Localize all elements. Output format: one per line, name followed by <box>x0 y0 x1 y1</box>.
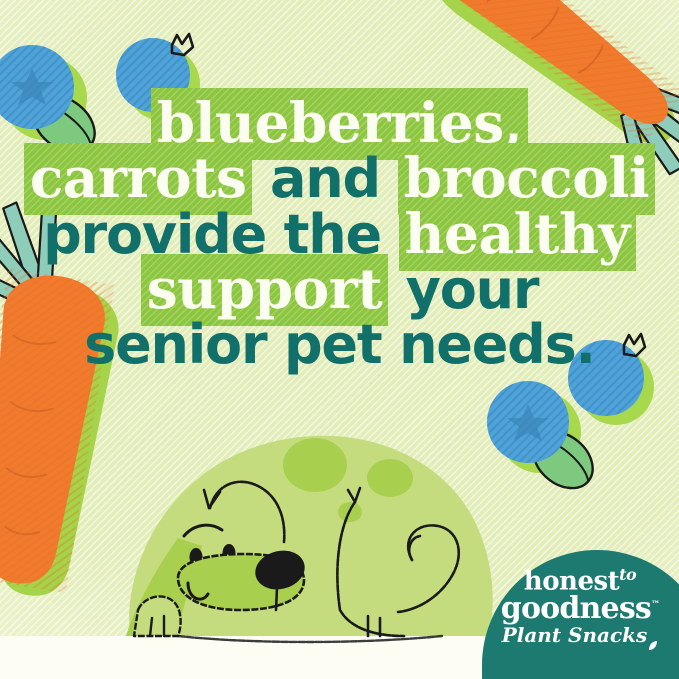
ad-canvas: blueberries, carrots and broccoli provid… <box>0 0 679 679</box>
headline: blueberries, carrots and broccoli provid… <box>0 96 679 372</box>
logo-word-to: to <box>619 565 636 584</box>
headline-phrase-senior-pet-needs: senior pet needs. <box>84 313 595 376</box>
leaf-icon <box>648 632 658 642</box>
logo-line-goodness: goodness™ <box>482 595 678 624</box>
logo-tagline: Plant Snacks <box>482 623 678 648</box>
brand-logo[interactable]: honestto goodness™ Plant Snacks <box>482 550 679 679</box>
headline-line-5: senior pet needs. <box>0 318 679 371</box>
headline-word-and: and <box>252 147 397 210</box>
logo-text-group: honestto goodness™ Plant Snacks <box>482 568 678 648</box>
headline-line-2: carrots and broccoli <box>0 151 679 205</box>
dog-illustration <box>112 420 532 650</box>
trademark-symbol: ™ <box>651 600 659 610</box>
headline-line-1: blueberries, <box>0 96 679 150</box>
headline-line-3: provide the healthy <box>0 207 679 261</box>
